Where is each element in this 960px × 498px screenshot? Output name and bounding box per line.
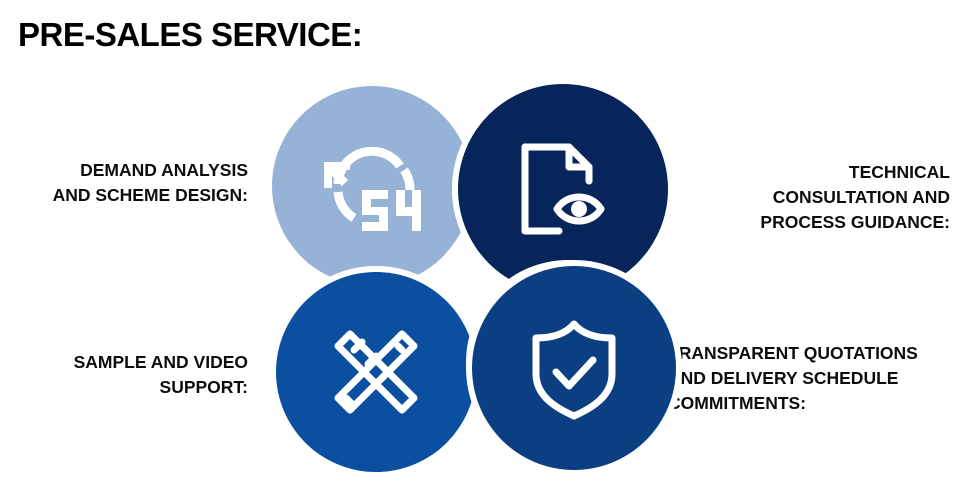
label-transparent-quotations: TRANSPARENT QUOTATIONS AND DELIVERY SCHE… [668,341,960,416]
pencil-ruler-cross-icon [324,320,428,424]
label-sample-video-support: SAMPLE AND VIDEO SUPPORT: [8,350,248,400]
label-demand-analysis: DEMAND ANALYSIS AND SCHEME DESIGN: [8,158,248,208]
node-transparent-quotations[interactable] [472,266,676,470]
circle-cluster [264,76,684,494]
clock-24-rotate-icon [318,140,426,232]
page-title: PRE-SALES SERVICE: [18,13,362,57]
infographic-canvas: PRE-SALES SERVICE: [0,0,960,498]
document-eye-icon [511,137,615,241]
label-technical-consultation: TECHNICAL CONSULTATION AND PROCESS GUIDA… [700,160,950,235]
node-demand-analysis[interactable] [272,86,472,286]
node-sample-video-support[interactable] [276,272,476,472]
shield-check-icon [524,316,624,420]
